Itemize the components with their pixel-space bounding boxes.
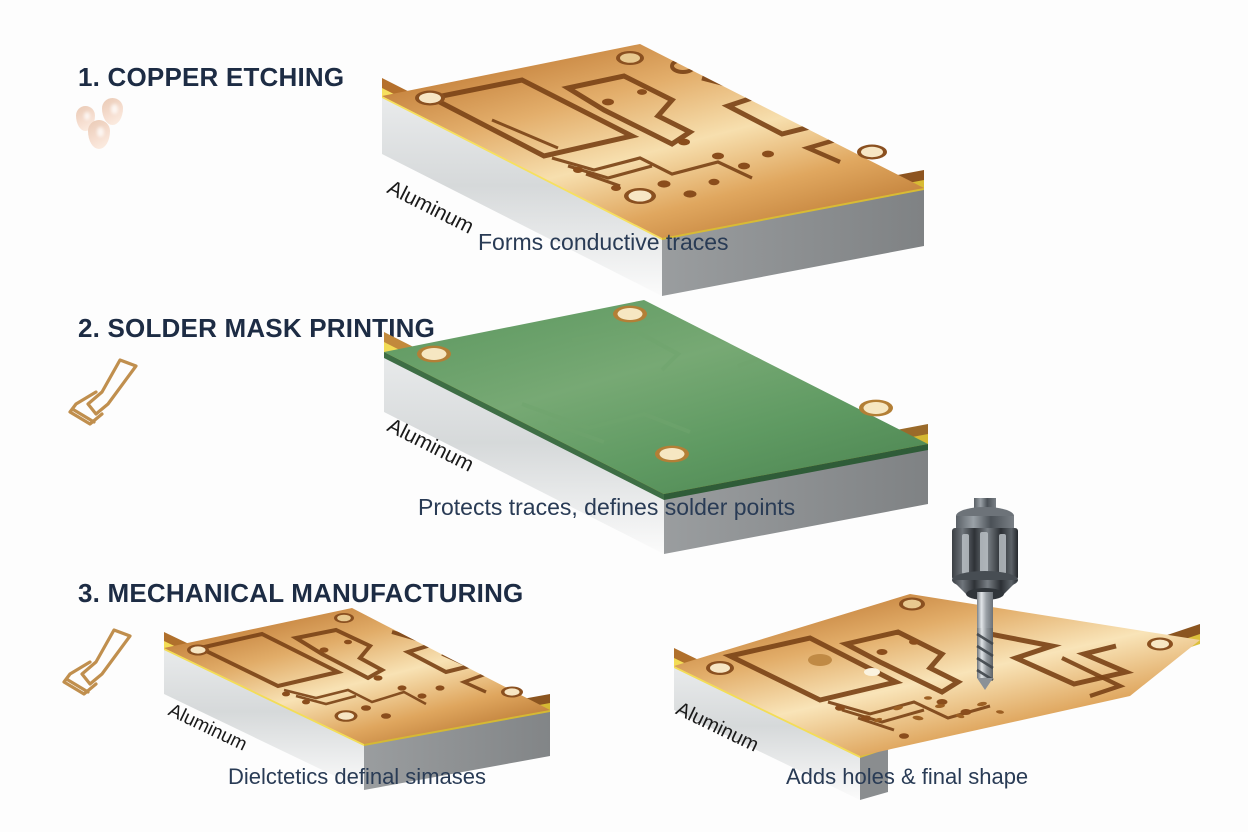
droplet-icon bbox=[88, 120, 110, 149]
step-2-caption: Protects traces, defines solder points bbox=[418, 494, 795, 521]
squeegee-icon bbox=[56, 622, 148, 705]
etchant-droplets-icon bbox=[76, 96, 146, 156]
infographic-canvas: 1. COPPER ETCHING bbox=[0, 0, 1248, 832]
drill-bit-tool bbox=[930, 498, 1040, 688]
step-1-title: 1. COPPER ETCHING bbox=[78, 62, 344, 93]
pcb-board-copper-step1: Aluminum bbox=[372, 38, 932, 238]
pcb-board-copper-step3-left: Aluminum bbox=[156, 604, 556, 774]
step-3-caption-left: Dielctetics definal simases bbox=[228, 764, 486, 790]
pcb-board-soldermask-step2: Aluminum bbox=[372, 296, 942, 496]
step-3-caption-right: Adds holes & final shape bbox=[786, 764, 1028, 790]
step-1-caption: Forms conductive traces bbox=[478, 229, 729, 256]
squeegee-icon bbox=[62, 352, 154, 435]
